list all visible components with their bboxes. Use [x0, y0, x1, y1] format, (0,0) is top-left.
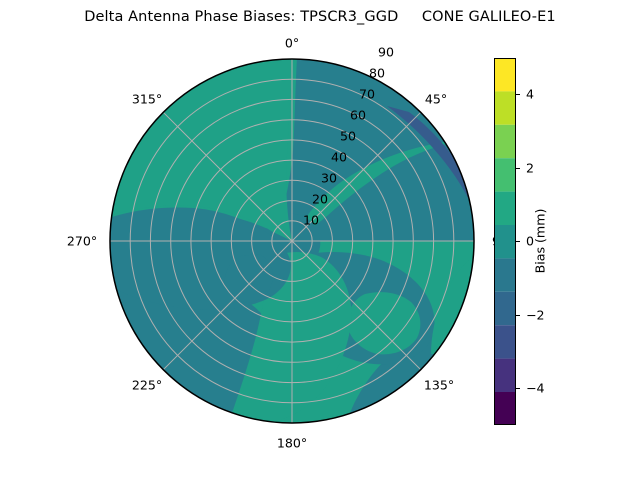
azimuth-label-135: 135° — [424, 378, 454, 393]
colorbar-band-6 — [494, 192, 516, 225]
azimuth-label-45: 45° — [425, 92, 447, 107]
colorbar-tickmark-0 — [516, 241, 520, 242]
colorbar: 4 2 0 −2 −4 — [494, 58, 516, 425]
polar-plot-svg — [109, 58, 475, 424]
colorbar-band-2 — [494, 325, 516, 358]
radial-label-10: 10 — [303, 213, 319, 228]
matplotlib-figure: Delta Antenna Phase Biases: TPSCR3_GGD C… — [0, 0, 640, 480]
colorbar-label-m2: −2 — [526, 308, 545, 323]
radial-label-40: 40 — [331, 150, 347, 165]
radial-label-80: 80 — [369, 66, 385, 81]
radial-label-90: 90 — [378, 45, 394, 60]
radial-label-70: 70 — [359, 87, 375, 102]
figure-title: Delta Antenna Phase Biases: TPSCR3_GGD C… — [0, 9, 640, 25]
colorbar-band-5 — [494, 225, 516, 258]
radial-label-50: 50 — [340, 129, 356, 144]
colorbar-tickmark-m2 — [516, 315, 520, 316]
radial-label-30: 30 — [321, 171, 337, 186]
colorbar-tickmark-4 — [516, 94, 520, 95]
colorbar-band-7 — [494, 158, 516, 191]
azimuth-label-180: 180° — [277, 436, 307, 451]
colorbar-band-4 — [494, 258, 516, 291]
polar-skyplot-axes: 0° 45° 90 135° 180° 225° 270° 315° 10 20… — [109, 58, 475, 424]
colorbar-band-3 — [494, 292, 516, 325]
azimuth-label-225: 225° — [132, 378, 162, 393]
polar-grid-spokes — [110, 59, 474, 423]
colorbar-tickmark-2 — [516, 168, 520, 169]
colorbar-label-m4: −4 — [526, 381, 545, 396]
colorbar-band-0 — [494, 392, 516, 425]
radial-label-20: 20 — [312, 192, 328, 207]
colorbar-tickmark-m4 — [516, 388, 520, 389]
colorbar-band-1 — [494, 359, 516, 392]
colorbar-title: Bias (mm) — [533, 209, 548, 274]
colorbar-band-9 — [494, 91, 516, 124]
radial-label-60: 60 — [350, 108, 366, 123]
azimuth-label-315: 315° — [132, 92, 162, 107]
azimuth-label-270: 270° — [67, 234, 97, 249]
colorbar-band-8 — [494, 125, 516, 158]
colorbar-gradient — [494, 58, 516, 425]
colorbar-label-4: 4 — [526, 87, 534, 102]
azimuth-label-0: 0° — [285, 36, 299, 51]
colorbar-label-2: 2 — [526, 161, 534, 176]
colorbar-band-10 — [494, 58, 516, 91]
